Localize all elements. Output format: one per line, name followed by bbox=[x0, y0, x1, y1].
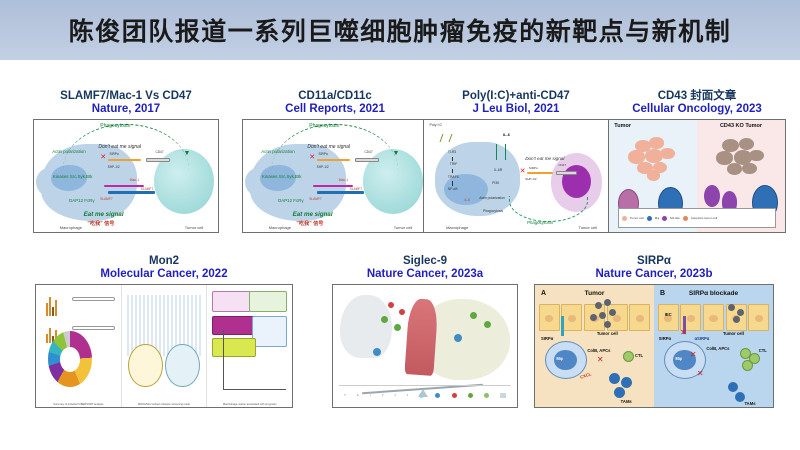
siglec9-legend: Y ⋔ | Y ʕ ʕ bbox=[339, 385, 512, 406]
legend-icon: | bbox=[370, 394, 371, 397]
panel-slamf7-mac1-cd47[interactable]: SLAMF7/Mac-1 Vs CD47 Nature, 2017 ▼ Phag… bbox=[33, 90, 219, 233]
label-ctl-b: CTL bbox=[759, 348, 767, 353]
label-sirpa: SIRPα bbox=[529, 166, 538, 170]
label-slamf7-tumor: SLAMF7 bbox=[141, 187, 153, 191]
label-anti-sirpa: αSIRPα bbox=[694, 336, 709, 341]
legend-icon: Y bbox=[344, 394, 346, 397]
subfigure-caption: Summary of included CIBERSORT analysis bbox=[38, 403, 119, 406]
label-actin-polarization: Actin polarization bbox=[258, 149, 298, 154]
cell-marker bbox=[388, 302, 394, 308]
label-phagocytosis-step: Phagocytosis bbox=[483, 209, 503, 213]
il6r-receptor-icon bbox=[496, 144, 506, 160]
panel-caption: SLAMF7/Mac-1 Vs CD47 Nature, 2017 bbox=[33, 90, 219, 116]
macrophage-tumor-diagram: ▼ Phagocytosis Actin polarization Kinase… bbox=[243, 120, 427, 232]
panel-journal: J Leu Biol, 2021 bbox=[423, 103, 609, 116]
label-ctl-a: CTL bbox=[635, 353, 643, 358]
legend-swatch bbox=[622, 216, 627, 221]
label-tumor-cell: Tumor cell bbox=[578, 225, 597, 230]
panel-topic: SLAMF7/Mac-1 Vs CD47 bbox=[33, 90, 219, 103]
panel-figure[interactable]: A Tumor Tumor cell SIRPα Mφ ColB, APCs ✕… bbox=[534, 284, 774, 408]
label-panel-a-title: Tumor bbox=[585, 290, 605, 297]
label-phagocytosis: Phagocytosis bbox=[309, 123, 339, 129]
legend-label: Tumor cell bbox=[630, 216, 644, 220]
arrow-head-icon: ▼ bbox=[183, 150, 190, 157]
label-kinases: Kinases Src,Syk,Btk bbox=[260, 174, 304, 179]
label-shp1: SHP-1/2 bbox=[108, 165, 120, 169]
panel-journal: Molecular Cancer, 2022 bbox=[35, 268, 293, 281]
sirpa-receptor bbox=[317, 159, 350, 161]
label-il6: IL-6 bbox=[503, 133, 510, 137]
legend-icon: ʕ bbox=[407, 394, 408, 397]
label-tumor-cell-b: Tumor cell bbox=[723, 331, 744, 336]
label-macrophage: Macrophage bbox=[269, 225, 291, 230]
tumor-cluster-wildtype bbox=[623, 135, 683, 182]
panel-figure[interactable]: Y ⋔ | Y ʕ ʕ bbox=[332, 284, 518, 408]
polyic-pathway-diagram: Poly I:C TLR3 TRIF TRAF6 NF-κB IL-6 IL-6… bbox=[424, 120, 608, 232]
panel-figure[interactable]: Tumor CD43 KO Tumor bbox=[608, 119, 786, 233]
sirpa-receptor bbox=[527, 172, 553, 174]
sirpa-signal-arrow bbox=[561, 316, 564, 336]
legend-swatch bbox=[468, 393, 473, 398]
inhibition-x-icon: ✕ bbox=[309, 154, 315, 161]
inhibition-x-icon: ✕ bbox=[597, 356, 604, 364]
label-iec: IEC bbox=[665, 312, 672, 317]
label-dont-eat-me: Don't eat me signal bbox=[525, 156, 564, 161]
label-dap12: DAP12 FcRγ bbox=[63, 198, 100, 203]
panel-caption: Siglec-9 Nature Cancer, 2023a bbox=[332, 255, 518, 281]
panel-caption: CD11a/CD11c Cell Reports, 2021 bbox=[242, 90, 428, 116]
panel-topic: SIRPα bbox=[534, 255, 774, 268]
label-colb-apcs-a: ColB, APCs bbox=[587, 348, 610, 353]
tam-cell-a bbox=[609, 373, 620, 384]
label-il6r: IL-6R bbox=[494, 168, 502, 172]
label-dap12: DAP12 FcRγ bbox=[272, 198, 309, 203]
ctl-cell-a bbox=[623, 351, 634, 362]
sirpa-panel-b: B SIRPα blockade IEC Tumor cell ✕ SIRPα … bbox=[654, 285, 773, 407]
apoptotic-tumor-cell bbox=[704, 185, 720, 207]
macrophage-tumor-diagram: ▼ Phagocytosis Actin polarization Kinase… bbox=[34, 120, 218, 232]
label-panel-a-letter: A bbox=[541, 290, 546, 297]
label-tumor-cell: Tumor cell bbox=[185, 225, 204, 230]
inhibition-x-icon: ✕ bbox=[690, 351, 697, 359]
slamf7-receptor bbox=[317, 191, 365, 194]
cd43-ko-comparison-figure: Tumor CD43 KO Tumor bbox=[609, 120, 785, 232]
label-phagocytosis: Phagocytosis bbox=[100, 123, 130, 129]
phagocytosis-arc-arrow bbox=[509, 196, 588, 222]
tam-cell-b bbox=[735, 392, 745, 402]
panel-sirpa[interactable]: SIRPα Nature Cancer, 2023b A Tumor Tumor… bbox=[534, 255, 774, 408]
label-tams-a: TAMs bbox=[621, 399, 632, 404]
label-panel-b-letter: B bbox=[660, 290, 665, 297]
label-kinases: Kinases Src,Syk,Btk bbox=[51, 174, 95, 179]
cell-marker bbox=[454, 334, 462, 342]
label-eat-me-signal-cn: "吃我" 信号 bbox=[87, 220, 114, 227]
panel-figure[interactable]: ▼ Phagocytosis Actin polarization Kinase… bbox=[33, 119, 219, 233]
label-tlr3: TLR3 bbox=[448, 150, 456, 154]
label-eat-me-signal-cn: "吃我" 信号 bbox=[296, 220, 323, 227]
label-pi3k: PI3K bbox=[492, 181, 499, 185]
tam-cell-b bbox=[728, 382, 738, 392]
slamf7-receptor bbox=[108, 191, 156, 194]
panel-topic: Mon2 bbox=[35, 255, 293, 268]
panel-figure[interactable]: Summary of included CIBERSORT analysis M… bbox=[35, 284, 293, 408]
bar-chart-mini bbox=[46, 295, 57, 317]
panel-journal: Nature Cancer, 2023b bbox=[534, 268, 774, 281]
label-eat-me-signal: Eat me signal bbox=[293, 211, 333, 218]
legend-label: Apoptotic tumor cell bbox=[691, 216, 717, 220]
panel-journal: Nature, 2017 bbox=[33, 103, 219, 116]
cd43-legend: Tumor cell Mφ M1-like Apoptotic tumor ce… bbox=[618, 208, 776, 228]
label-left-header: Tumor bbox=[614, 123, 631, 129]
mon2-column-1: Summary of included CIBERSORT analysis bbox=[36, 285, 122, 407]
panel-topic: CD43 封面文章 bbox=[608, 90, 786, 103]
flow-box bbox=[249, 291, 287, 312]
legend-swatch bbox=[452, 393, 457, 398]
sirpa-blockade-figure: A Tumor Tumor cell SIRPα Mφ ColB, APCs ✕… bbox=[535, 285, 773, 407]
panel-cd11a-cd11c[interactable]: CD11a/CD11c Cell Reports, 2021 ▼ Phagocy… bbox=[242, 90, 428, 233]
subfigure-caption: Macrophage marker associated with progno… bbox=[209, 403, 290, 406]
epithelial-layer bbox=[658, 304, 770, 331]
label-macrophage: Macrophage bbox=[446, 225, 468, 230]
panel-topic: CD11a/CD11c bbox=[242, 90, 428, 103]
cell-marker bbox=[470, 312, 477, 319]
ctl-cell-b bbox=[742, 360, 753, 371]
panel-caption: SIRPα Nature Cancer, 2023b bbox=[534, 255, 774, 281]
label-shp1: SHP-1/2 bbox=[317, 165, 329, 169]
panel-journal: Nature Cancer, 2023a bbox=[332, 268, 518, 281]
legend-icon: ⋔ bbox=[357, 394, 359, 397]
label-traf6: TRAF6 bbox=[448, 175, 459, 179]
label-sirpa-b: SIRPα bbox=[659, 336, 671, 341]
panel-siglec-9[interactable]: Siglec-9 Nature Cancer, 2023a Y ⋔ | Y ʕ bbox=[332, 255, 518, 408]
legend-swatch bbox=[484, 393, 489, 398]
sirpa-receptor bbox=[108, 159, 141, 161]
label-trif: TRIF bbox=[450, 162, 458, 166]
cell-marker bbox=[394, 324, 401, 331]
label-tumor-cell-a: Tumor cell bbox=[597, 331, 618, 336]
label-sirpa: SIRPα bbox=[318, 152, 327, 156]
donut-chart bbox=[48, 331, 92, 387]
panel-topic: Poly(I:C)+anti-CD47 bbox=[423, 90, 609, 103]
label-mac1: Mac-1 bbox=[339, 178, 348, 182]
legend-label: Mφ bbox=[655, 216, 659, 220]
label-sirpa-a: SIRPα bbox=[541, 336, 553, 341]
blockade-x-icon: ✕ bbox=[680, 329, 687, 337]
siglec9-schematic: Y ⋔ | Y ʕ ʕ bbox=[333, 285, 517, 407]
panel-caption: Poly(I:C)+anti-CD47 J Leu Biol, 2021 bbox=[423, 90, 609, 116]
panel-figure[interactable]: ▼ Phagocytosis Actin polarization Kinase… bbox=[242, 119, 428, 233]
label-tams-b: TAMs bbox=[744, 401, 755, 406]
legend-swatch bbox=[683, 216, 688, 221]
mon2-column-3: Macrophage marker associated with progno… bbox=[207, 285, 292, 407]
label-sirpa: SIRPα bbox=[109, 152, 118, 156]
legend-swatch bbox=[435, 393, 440, 398]
mon2-column-2: MDSC/Mon subset cohesion screening resul… bbox=[122, 285, 208, 407]
label-tumor-cell: Tumor cell bbox=[394, 225, 413, 230]
legend-swatch bbox=[647, 216, 652, 221]
panel-caption: Mon2 Molecular Cancer, 2022 bbox=[35, 255, 293, 281]
legend-icon: ʕ bbox=[395, 394, 396, 397]
flow-box bbox=[212, 291, 250, 312]
label-mphi-b: Mφ bbox=[675, 356, 681, 361]
panel-mon2[interactable]: Mon2 Molecular Cancer, 2022 Summary of i… bbox=[35, 255, 293, 408]
annotation-box bbox=[72, 297, 115, 301]
mac1-receptor bbox=[104, 185, 144, 188]
panel-topic: Siglec-9 bbox=[332, 255, 518, 268]
legend-swatch bbox=[419, 393, 424, 398]
panel-caption: CD43 封面文章 Cellular Oncology, 2023 bbox=[608, 90, 786, 116]
label-cd47: CD47 bbox=[364, 150, 372, 154]
tam-cell-a bbox=[614, 387, 625, 398]
label-cd47: CD47 bbox=[155, 150, 163, 154]
panel-cd43-cover[interactable]: CD43 封面文章 Cellular Oncology, 2023 Tumor … bbox=[608, 90, 786, 233]
label-mphi-a: Mφ bbox=[556, 356, 562, 361]
panel-journal: Cellular Oncology, 2023 bbox=[608, 103, 786, 116]
cd47-receptor bbox=[355, 158, 379, 162]
label-panel-b-title: SIRPα blockade bbox=[689, 290, 738, 297]
panel-figure[interactable]: Poly I:C TLR3 TRIF TRAF6 NF-κB IL-6 IL-6… bbox=[423, 119, 609, 233]
label-colb-apcs-b: ColB, APCs bbox=[706, 346, 729, 351]
sirpa-panel-a: A Tumor Tumor cell SIRPα Mφ ColB, APCs ✕… bbox=[535, 285, 654, 407]
label-macrophage: Macrophage bbox=[60, 225, 82, 230]
cd47-receptor bbox=[556, 171, 576, 175]
venn-circle-left bbox=[128, 344, 162, 387]
panel-polyic-anti-cd47[interactable]: Poly(I:C)+anti-CD47 J Leu Biol, 2021 Pol… bbox=[423, 90, 609, 233]
label-slamf7-tumor: SLAMF7 bbox=[350, 187, 362, 191]
label-dont-eat-me: Don't eat me signal bbox=[98, 144, 141, 150]
label-dont-eat-me: Don't eat me signal bbox=[307, 144, 350, 150]
subfigure-caption: MDSC/Mon subset cohesion screening resul… bbox=[123, 403, 204, 406]
inhibition-x-icon: ✕ bbox=[520, 168, 526, 175]
blood-vessel bbox=[404, 298, 439, 375]
legend-swatch bbox=[662, 216, 667, 221]
tumor-cluster-cd43ko bbox=[711, 135, 771, 182]
label-phagocytosis-arc: Phagocytosis bbox=[527, 220, 553, 225]
label-cd47: CD47 bbox=[558, 163, 566, 167]
inhibition-x-icon: ✕ bbox=[100, 154, 106, 161]
cd47-receptor bbox=[146, 158, 170, 162]
label-poly-ic: Poly I:C bbox=[430, 123, 443, 127]
cell-marker bbox=[399, 309, 405, 315]
annotation-box bbox=[72, 326, 115, 330]
pathway-arrow bbox=[452, 181, 453, 185]
arrow-head-icon: ▼ bbox=[392, 150, 399, 157]
label-shp1: SHP-1/2 bbox=[525, 177, 536, 181]
legend-label: M1-like bbox=[670, 216, 680, 220]
label-slamf7-macrophage: SLAMF7 bbox=[309, 197, 321, 201]
label-actin-polarization: Actin polarization bbox=[479, 196, 505, 200]
label-il6-gene: IL-6 bbox=[464, 198, 470, 202]
inhibition-x-icon: ✕ bbox=[697, 370, 704, 378]
label-actin-polarization: Actin polarization bbox=[49, 149, 89, 154]
legend-swatch bbox=[500, 393, 506, 398]
pathway-arrow bbox=[452, 169, 453, 173]
page-title: 陈俊团队报道一系列巨噬细胞肿瘤免疫的新靶点与新机制 bbox=[69, 12, 732, 48]
label-mac1: Mac-1 bbox=[130, 178, 139, 182]
label-slamf7-macrophage: SLAMF7 bbox=[100, 197, 112, 201]
label-right-header: CD43 KO Tumor bbox=[720, 123, 762, 129]
legend-icon: Y bbox=[382, 394, 384, 397]
panel-journal: Cell Reports, 2021 bbox=[242, 103, 428, 116]
mon2-figure-montage: Summary of included CIBERSORT analysis M… bbox=[36, 285, 292, 407]
survival-curve-plot bbox=[223, 330, 287, 390]
pathway-arrow bbox=[452, 157, 453, 161]
slide-header: 陈俊团队报道一系列巨噬细胞肿瘤免疫的新靶点与新机制 bbox=[0, 0, 800, 60]
label-nfkb: NF-κB bbox=[448, 187, 458, 191]
venn-circle-right bbox=[165, 344, 199, 387]
tlr3-receptor-icon bbox=[439, 134, 452, 142]
head-silhouette bbox=[340, 295, 392, 358]
label-eat-me-signal: Eat me signal bbox=[84, 211, 124, 218]
mac1-receptor bbox=[313, 185, 353, 188]
